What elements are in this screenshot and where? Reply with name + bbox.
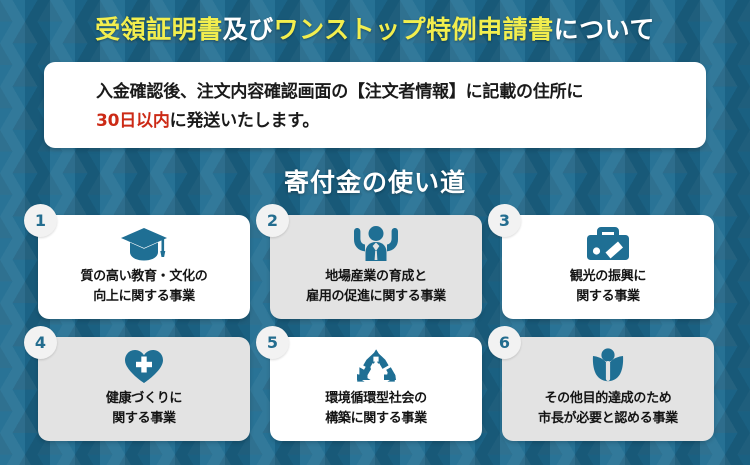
usage-card-5-line-1: 環境循環型社会の — [325, 391, 427, 406]
usage-card-2-text: 地場産業の育成と 雇用の促進に関する事業 — [270, 267, 482, 307]
heart-cross-icon — [38, 346, 250, 386]
sprout-icon — [502, 346, 714, 386]
usage-card-row-1: 1 質の高い教育・文化の 向上に関する事業 — [38, 215, 714, 319]
usage-card-3-line-2: 関する事業 — [502, 287, 714, 307]
notice-deadline-highlight: 30日以内 — [96, 111, 170, 131]
usage-card-2-line-1: 地場産業の育成と — [325, 269, 427, 284]
usage-card-4-line-1: 健康づくりに — [106, 391, 182, 406]
page-title-part-3: ワンストップ特例申請書 — [274, 15, 554, 44]
usage-card-4-line-2: 関する事業 — [38, 409, 250, 429]
cheering-person-icon — [270, 224, 482, 264]
section-heading: 寄付金の使い道 — [0, 163, 750, 199]
usage-card-2[interactable]: 2 地場産業の育成と 雇用の促進に関する事業 — [270, 215, 482, 319]
notice-line-1: 入金確認後、注文内容確認画面の【注文者情報】に記載の住所に — [96, 78, 686, 107]
page-title: 受領証明書及びワンストップ特例申請書について — [0, 13, 750, 47]
usage-card-5-text: 環境循環型社会の 構築に関する事業 — [270, 389, 482, 429]
page-title-part-2: 及び — [223, 15, 274, 44]
suitcase-icon — [502, 224, 714, 264]
usage-card-1-line-1: 質の高い教育・文化の — [80, 269, 207, 284]
usage-card-5-line-2: 構築に関する事業 — [270, 409, 482, 429]
usage-card-6-text: その他目的達成のため 市長が必要と認める事業 — [502, 389, 714, 429]
usage-card-6-line-1: その他目的達成のため — [544, 391, 671, 406]
usage-card-4-text: 健康づくりに 関する事業 — [38, 389, 250, 429]
usage-card-6-line-2: 市長が必要と認める事業 — [502, 409, 714, 429]
usage-card-6[interactable]: 6 その他目的達成のため 市長が必要と認める事業 — [502, 337, 714, 441]
usage-card-row-2: 4 健康づくりに 関する事業 5 — [38, 337, 714, 441]
page-title-part-4: について — [554, 15, 655, 44]
card-number-badge: 2 — [256, 204, 289, 237]
usage-card-1-line-2: 向上に関する事業 — [38, 287, 250, 307]
notice-line-2: 30日以内に発送いたします。 — [96, 107, 686, 136]
usage-card-3[interactable]: 3 観光の振興に 関する事業 — [502, 215, 714, 319]
card-number-badge: 6 — [488, 326, 521, 359]
graduation-cap-icon — [38, 224, 250, 264]
notice-card: 入金確認後、注文内容確認画面の【注文者情報】に記載の住所に 30日以内に発送いた… — [44, 62, 706, 148]
card-number-badge: 1 — [24, 204, 57, 237]
notice-line-2-rest: に発送いたします。 — [170, 111, 320, 131]
usage-card-grid: 1 質の高い教育・文化の 向上に関する事業 — [38, 215, 714, 459]
page-title-part-1: 受領証明書 — [95, 15, 223, 44]
card-number-badge: 5 — [256, 326, 289, 359]
usage-card-2-line-2: 雇用の促進に関する事業 — [270, 287, 482, 307]
poster-root: 受領証明書及びワンストップ特例申請書について 入金確認後、注文内容確認画面の【注… — [0, 0, 750, 465]
usage-card-1[interactable]: 1 質の高い教育・文化の 向上に関する事業 — [38, 215, 250, 319]
usage-card-4[interactable]: 4 健康づくりに 関する事業 — [38, 337, 250, 441]
usage-card-5[interactable]: 5 — [270, 337, 482, 441]
recycle-icon — [270, 346, 482, 386]
usage-card-3-line-1: 観光の振興に — [570, 269, 646, 284]
usage-card-1-text: 質の高い教育・文化の 向上に関する事業 — [38, 267, 250, 307]
usage-card-3-text: 観光の振興に 関する事業 — [502, 267, 714, 307]
card-number-badge: 4 — [24, 326, 57, 359]
card-number-badge: 3 — [488, 204, 521, 237]
